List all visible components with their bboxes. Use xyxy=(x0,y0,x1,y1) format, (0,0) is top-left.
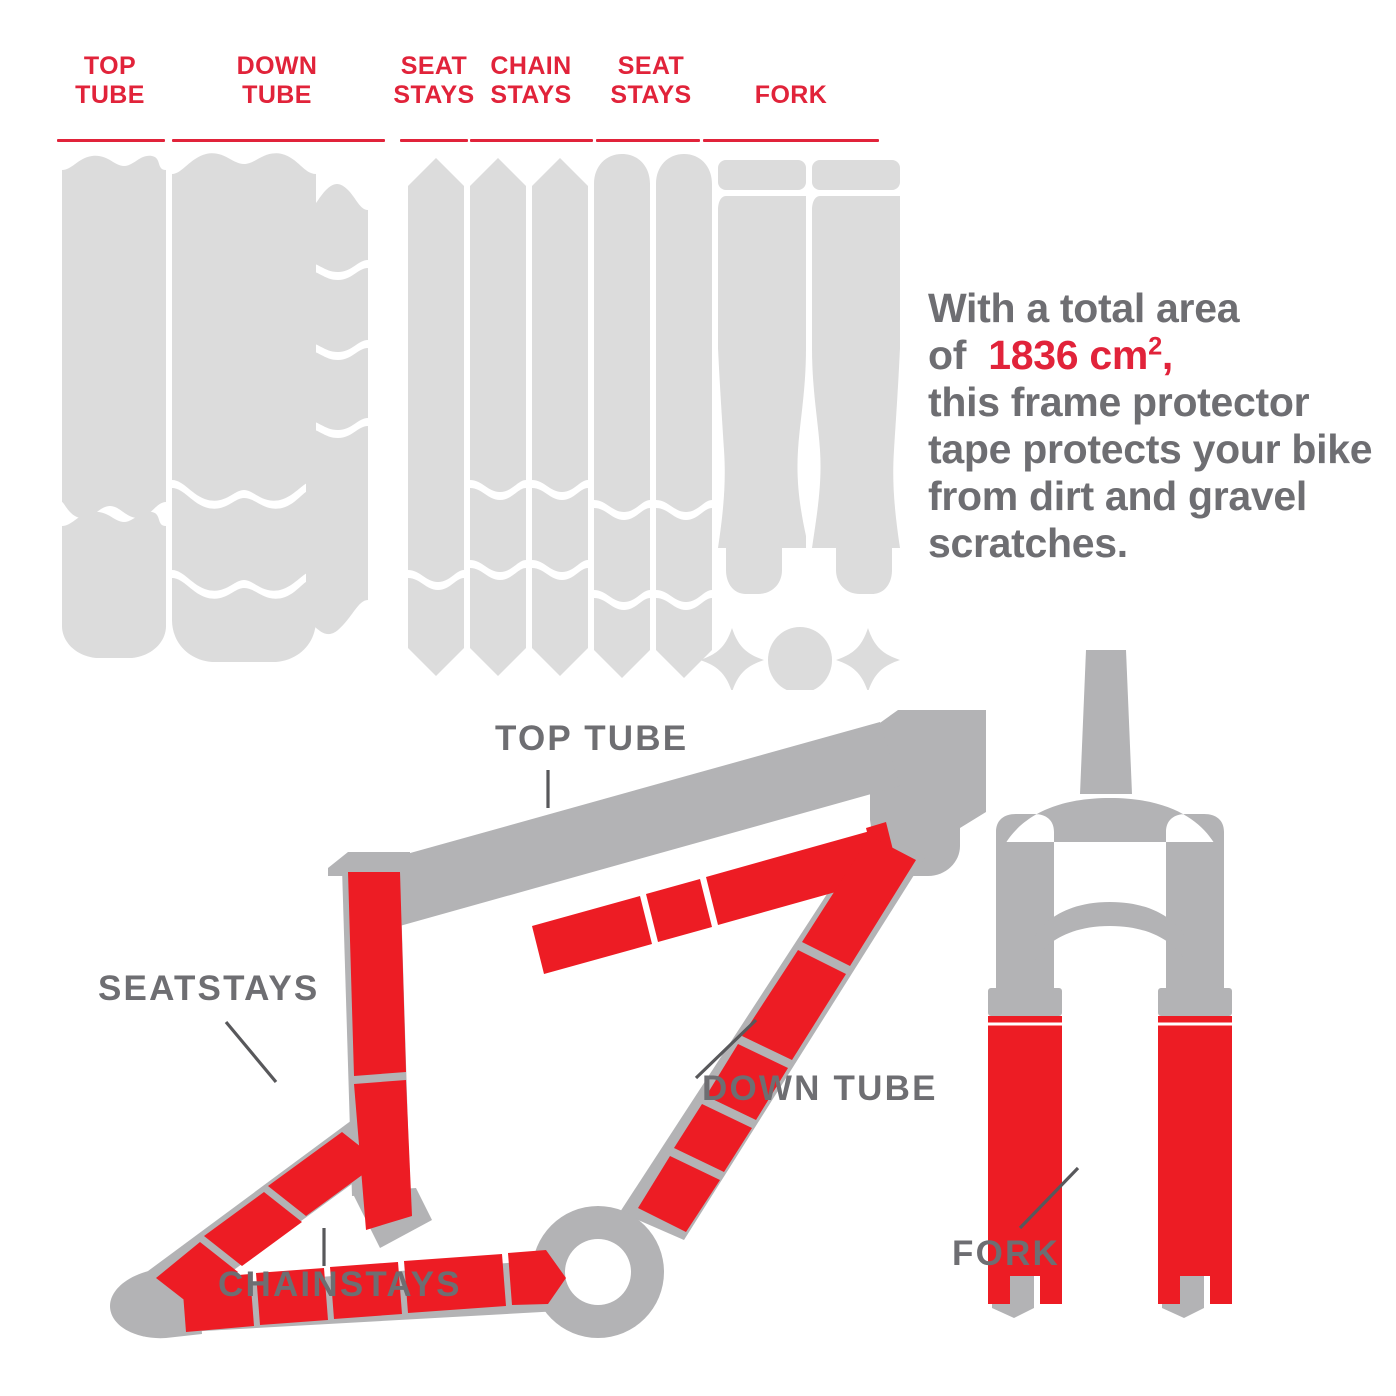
strip-seatstay-d2 xyxy=(656,508,712,602)
strip-seatstay-b2 xyxy=(470,488,526,572)
blurb-line-1: With a total area xyxy=(928,285,1239,331)
kit-group-label: SEAT STAYS xyxy=(585,52,717,110)
kit-rule-seat-stays-1 xyxy=(400,139,468,142)
total-area-value: 1836 cm2, xyxy=(988,332,1173,378)
strip-small-3 xyxy=(306,348,368,430)
kit-strips-sheet xyxy=(0,150,930,690)
tape-seat-tube-1 xyxy=(348,872,406,1076)
kit-rule-seat-stays-2 xyxy=(596,139,700,142)
kit-group-chain-stays: CHAIN STAYS xyxy=(463,52,599,110)
strip-seatstay-c xyxy=(594,154,650,512)
kit-rule-fork xyxy=(703,139,879,142)
infographic-canvas: TOP TUBE DOWN TUBE SEAT STAYS CHAIN STAY… xyxy=(0,0,1396,1396)
bottom-bracket-hole xyxy=(565,1239,631,1305)
left-clamp xyxy=(988,988,1062,1016)
strip-chainstay-a3 xyxy=(532,568,588,676)
strip-seatstay-b xyxy=(470,158,526,492)
strip-fork-left xyxy=(718,196,806,594)
tape-top-tube-1 xyxy=(532,896,652,974)
kit-header: TOP TUBE DOWN TUBE SEAT STAYS CHAIN STAY… xyxy=(0,0,1396,150)
strip-seatstay-a xyxy=(408,158,464,582)
strip-down-tube xyxy=(172,153,316,500)
blurb-rest: this frame protector tape protects your … xyxy=(928,379,1372,566)
callout-label-fork: FORK xyxy=(952,1234,1060,1273)
kit-group-label: FORK xyxy=(721,81,861,110)
strip-chainstay-a xyxy=(532,158,588,492)
kit-group-label: TOP TUBE xyxy=(40,52,180,110)
strip-seatstay-c3 xyxy=(594,598,650,678)
strip-top-tube-tail xyxy=(62,512,166,658)
strip-down-tube-tail xyxy=(172,578,316,662)
callout-label-top-tube: TOP TUBE xyxy=(495,719,688,758)
kit-rule-down-tube xyxy=(172,139,385,142)
callout-label-down-tube: DOWN TUBE xyxy=(702,1069,938,1108)
strip-small-2 xyxy=(306,268,368,352)
bike-frame-diagram: TOP TUBE SEATSTAYS DOWN TUBE CHAINSTAYS xyxy=(80,700,1040,1340)
kit-group-fork: FORK xyxy=(721,81,861,110)
strip-top-tube xyxy=(62,156,166,518)
kit-group-top-tube: TOP TUBE xyxy=(40,52,180,110)
tape-fork-right xyxy=(1158,1016,1232,1304)
area-number: 1836 cm xyxy=(988,332,1148,378)
total-area-blurb: With a total area of 1836 cm2, this fram… xyxy=(928,285,1396,567)
callout-leader-seatstays xyxy=(226,1022,276,1082)
strip-seatstay-c2 xyxy=(594,508,650,602)
strip-chainstay-a2 xyxy=(532,488,588,572)
strip-circle xyxy=(768,627,832,690)
callout-label-seatstays: SEATSTAYS xyxy=(98,969,319,1008)
area-comma: , xyxy=(1162,332,1173,378)
right-clamp xyxy=(1158,988,1232,1016)
fork-arch xyxy=(1034,902,1186,962)
strip-star-right xyxy=(836,628,900,690)
steerer-tube xyxy=(1080,650,1132,794)
callout-label-chainstays: CHAINSTAYS xyxy=(218,1265,462,1304)
area-exponent: 2 xyxy=(1148,332,1162,360)
suspension-fork-diagram: FORK xyxy=(930,620,1390,1340)
strip-seatstay-b3 xyxy=(470,568,526,676)
strip-fork-tab-left xyxy=(718,160,806,190)
kit-group-down-tube: DOWN TUBE xyxy=(207,52,347,110)
tape-top-tube-2 xyxy=(646,879,712,942)
kit-group-label: DOWN TUBE xyxy=(207,52,347,110)
kit-group-label: CHAIN STAYS xyxy=(463,52,599,110)
kit-rule-top-tube xyxy=(57,139,165,142)
blurb-of: of xyxy=(928,332,966,378)
strip-seatstay-a2 xyxy=(408,578,464,676)
strip-down-tube-mid xyxy=(172,488,316,591)
strip-seatstay-d xyxy=(656,154,712,512)
kit-group-seat-stays-2: SEAT STAYS xyxy=(585,52,717,110)
strip-fork-right xyxy=(812,196,900,594)
strip-seatstay-d3 xyxy=(656,598,712,678)
strip-small-4 xyxy=(306,426,368,634)
kit-rule-chain-stays xyxy=(470,139,593,142)
strip-fork-tab-right xyxy=(812,160,900,190)
